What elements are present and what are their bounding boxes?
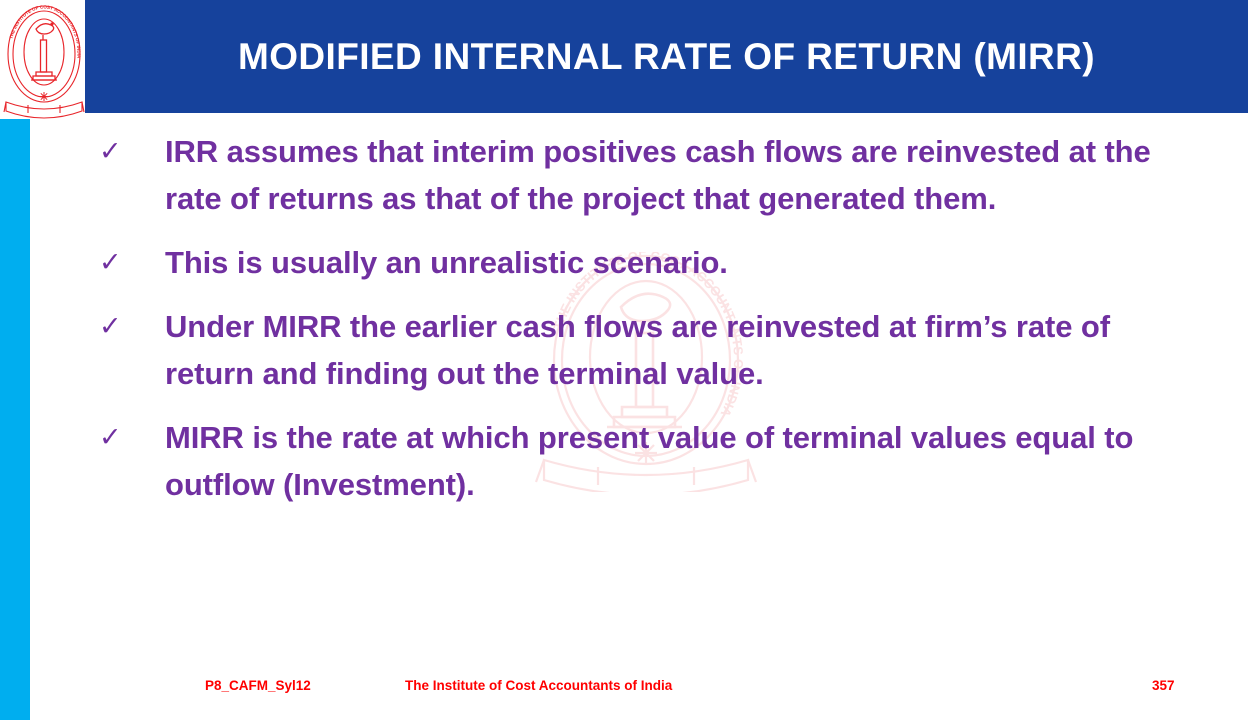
footer-page-number: 357 — [1152, 676, 1175, 696]
footer-course-code: P8_CAFM_Syl12 — [205, 676, 311, 696]
list-item-text: Under MIRR the earlier cash flows are re… — [165, 303, 1180, 397]
list-item-text: MIRR is the rate at which present value … — [165, 414, 1180, 508]
bullet-list: ✓ IRR assumes that interim positives cas… — [95, 128, 1180, 525]
list-item: ✓ IRR assumes that interim positives cas… — [95, 128, 1180, 222]
slide-footer: P8_CAFM_Syl12 The Institute of Cost Acco… — [0, 676, 1248, 698]
checkmark-icon: ✓ — [95, 303, 165, 350]
institute-logo: THE INSTITUTE OF COST ACCOUNTANTS OF IND… — [2, 2, 86, 120]
slide-canvas: MODIFIED INTERNAL RATE OF RETURN (MIRR) … — [0, 0, 1248, 720]
checkmark-icon: ✓ — [95, 414, 165, 461]
slide-title: MODIFIED INTERNAL RATE OF RETURN (MIRR) — [85, 35, 1248, 79]
list-item-text: IRR assumes that interim positives cash … — [165, 128, 1180, 222]
list-item-text: This is usually an unrealistic scenario. — [165, 239, 1180, 286]
list-item: ✓ This is usually an unrealistic scenari… — [95, 239, 1180, 286]
footer-organisation: The Institute of Cost Accountants of Ind… — [405, 676, 672, 696]
slide-header-bar: MODIFIED INTERNAL RATE OF RETURN (MIRR) — [85, 0, 1248, 113]
checkmark-icon: ✓ — [95, 128, 165, 175]
left-accent-strip — [0, 119, 30, 720]
checkmark-icon: ✓ — [95, 239, 165, 286]
list-item: ✓ MIRR is the rate at which present valu… — [95, 414, 1180, 508]
list-item: ✓ Under MIRR the earlier cash flows are … — [95, 303, 1180, 397]
